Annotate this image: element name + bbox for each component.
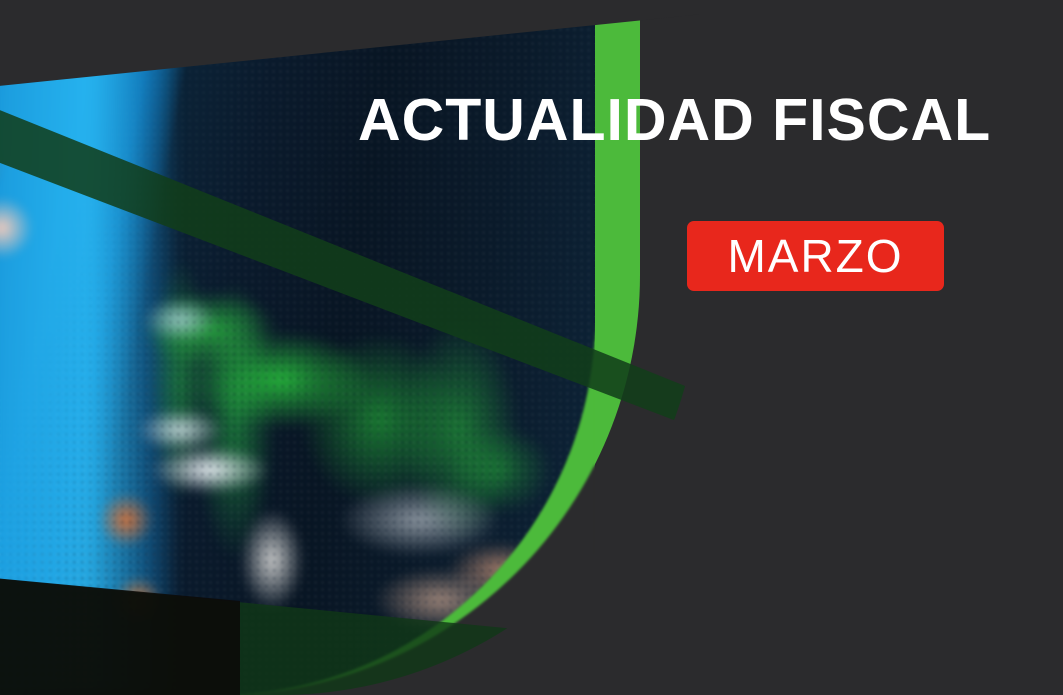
month-badge: MARZO [687,221,944,291]
month-badge-label: MARZO [727,233,903,279]
poster-canvas: ACTUALIDAD FISCAL MARZO [0,0,1063,695]
page-title: ACTUALIDAD FISCAL [358,91,991,150]
